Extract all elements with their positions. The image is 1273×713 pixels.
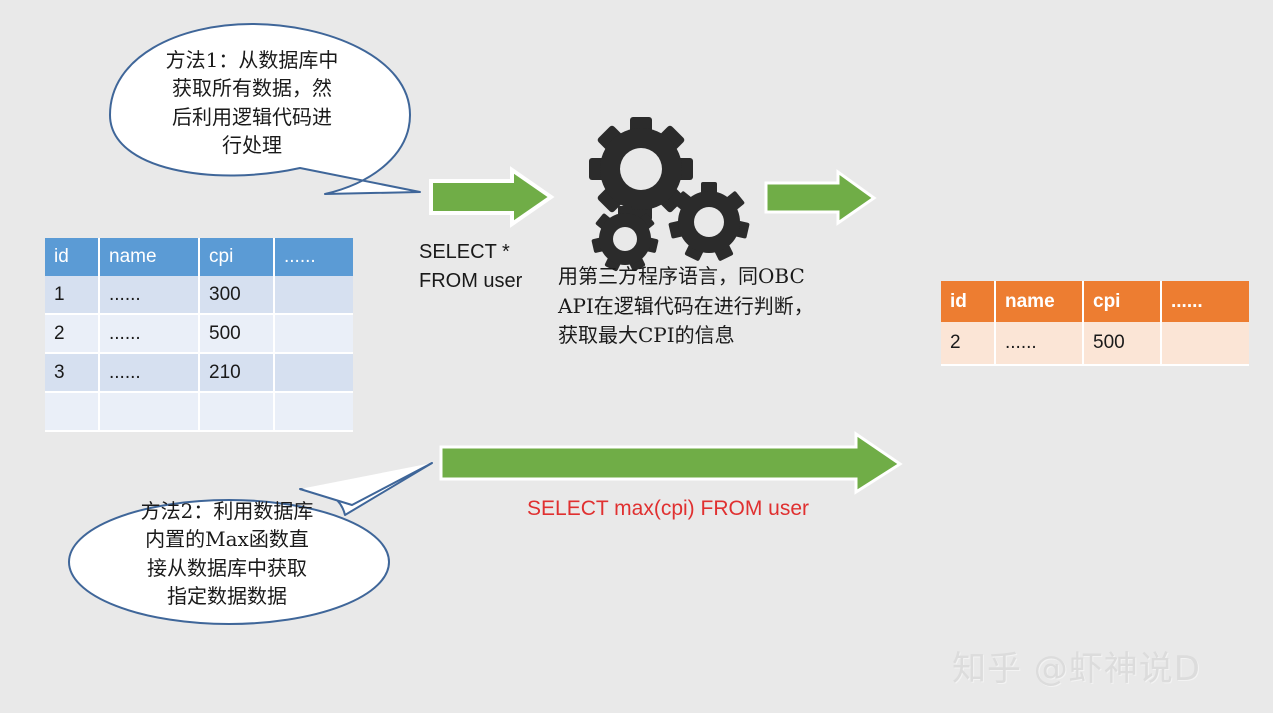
cell-name: ...... (100, 354, 200, 393)
cell-cpi (200, 393, 275, 432)
cell-more (275, 393, 353, 432)
column-header-more: ...... (275, 238, 353, 276)
arrow-right-long-icon-shape (441, 434, 900, 492)
cell-more (275, 276, 353, 315)
max-cpi-result-table[interactable]: id name cpi ...... 2 ...... 500 (941, 281, 1249, 366)
cell-id: 3 (45, 354, 100, 393)
bubble-method-2-label: 方法2：利用数据库 内置的Max函数直 接从数据库中获取 指定数据数据 (100, 497, 354, 611)
cell-id: 1 (45, 276, 100, 315)
sql-select-all-label: SELECT * FROM user (419, 238, 522, 296)
column-header-more: ...... (1162, 281, 1249, 322)
cell-cpi: 500 (200, 315, 275, 354)
watermark: 知乎 @虾神说D (952, 641, 1201, 690)
cell-more (1162, 322, 1249, 366)
cell-name (100, 393, 200, 432)
user-source-table[interactable]: id name cpi ...... 1 ...... 300 2 ......… (45, 238, 353, 432)
cell-name: ...... (100, 315, 200, 354)
sql-max-label: SELECT max(cpi) FROM user (527, 497, 809, 521)
cell-id: 2 (45, 315, 100, 354)
table-header-row: id name cpi ...... (45, 238, 353, 276)
cell-cpi: 210 (200, 354, 275, 393)
table-row[interactable]: 1 ...... 300 (45, 276, 353, 315)
cell-cpi: 300 (200, 276, 275, 315)
arrow-right-long-icon (441, 434, 900, 492)
table-row[interactable]: 3 ...... 210 (45, 354, 353, 393)
cell-more (275, 315, 353, 354)
bubble-method-1-label: 方法1：从数据库中 获取所有数据，然 后利用逻辑代码进 行处理 (128, 46, 376, 160)
cell-name: ...... (996, 322, 1084, 366)
table-row-empty[interactable] (45, 393, 353, 432)
gears-icon (589, 117, 750, 272)
cell-id (45, 393, 100, 432)
arrow-right-icon-2-shape (766, 172, 874, 223)
column-header-id: id (45, 238, 100, 276)
arrow-right-icon-1-shape (431, 170, 551, 224)
column-header-cpi: cpi (1084, 281, 1162, 322)
cell-cpi: 500 (1084, 322, 1162, 366)
cell-name: ...... (100, 276, 200, 315)
logic-processing-note: 用第三方程序语言，同OBC API在逻辑代码在进行判断，获取最大CPI的信息 (558, 262, 820, 351)
table-row[interactable]: 2 ...... 500 (45, 315, 353, 354)
table-header-row: id name cpi ...... (941, 281, 1249, 322)
cell-id: 2 (941, 322, 996, 366)
column-header-name: name (996, 281, 1084, 322)
arrow-right-icon-2 (766, 172, 874, 223)
arrow-right-icon-1 (431, 170, 551, 224)
column-header-cpi: cpi (200, 238, 275, 276)
cell-more (275, 354, 353, 393)
column-header-name: name (100, 238, 200, 276)
gear-medium-icon (668, 182, 750, 261)
column-header-id: id (941, 281, 996, 322)
table-row[interactable]: 2 ...... 500 (941, 322, 1249, 366)
